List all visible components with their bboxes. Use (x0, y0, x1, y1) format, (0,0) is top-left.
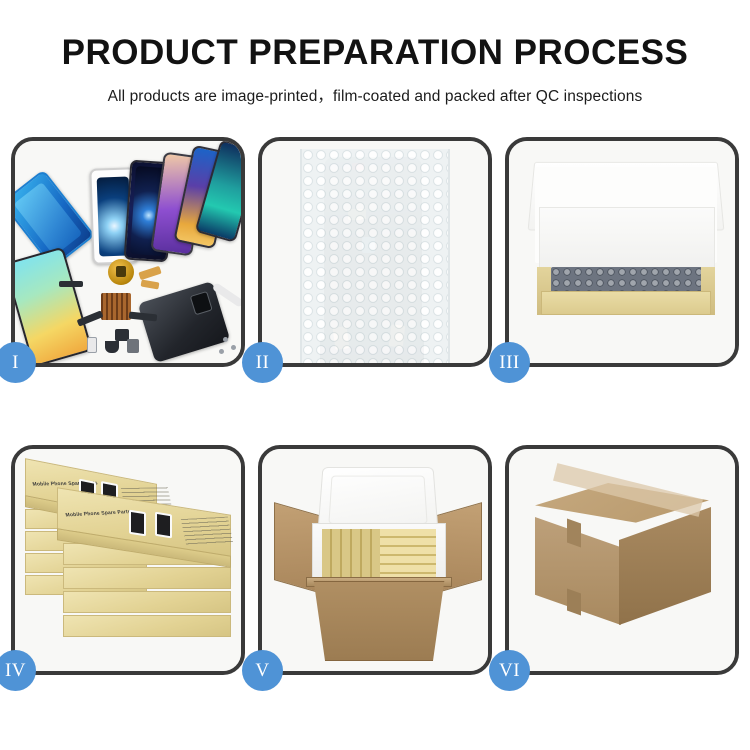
step-image-2 (262, 141, 488, 363)
packed-boxes-2-icon (380, 529, 436, 577)
box-spec-lines-2 (181, 517, 233, 546)
page-subtitle: All products are image-printed，film-coat… (0, 84, 750, 106)
step-panel-6: VI (505, 445, 739, 675)
carton-body-icon (308, 581, 450, 661)
phone-housing-icon (138, 281, 231, 363)
carton-right-face-icon (619, 507, 711, 625)
step-image-6 (509, 449, 735, 671)
step-badge-4: IV (0, 650, 36, 691)
step-panel-5: V (258, 445, 492, 675)
part-connector-icon (87, 337, 97, 353)
step-panel-2: II (258, 137, 492, 367)
screw-2-icon (231, 345, 236, 350)
step-image-3 (509, 141, 735, 363)
step-panel-1: I (11, 137, 245, 367)
step-badge-2: II (242, 342, 283, 383)
step-badge-6: VI (489, 650, 530, 691)
step-panel-4: Mobile Phone Spare Parts Mobile Phone Sp… (11, 445, 245, 675)
kraft-box-right-1 (63, 615, 231, 637)
box-art-4-icon (155, 512, 172, 539)
part-speaker-icon (59, 281, 83, 287)
kraft-box-right-2 (63, 591, 231, 613)
part-button-icon (127, 339, 139, 353)
page-title: PRODUCT PREPARATION PROCESS (0, 34, 750, 73)
part-camera-icon (105, 341, 119, 353)
foam-sheet-icon (539, 207, 715, 275)
step-image-5 (262, 449, 488, 671)
step-image-1 (15, 141, 241, 363)
bubble-wrap-icon (300, 149, 450, 363)
process-steps-grid: I II (11, 137, 739, 675)
step-badge-5: V (242, 650, 283, 691)
step-panel-3: III (505, 137, 739, 367)
step-image-4: Mobile Phone Spare Parts Mobile Phone Sp… (15, 449, 241, 671)
chip-grid-icon (101, 293, 131, 320)
screw-3-icon (219, 349, 224, 354)
header: PRODUCT PREPARATION PROCESS All products… (0, 0, 750, 106)
box-wall-front-icon (541, 291, 711, 315)
carton-seam-top-icon (567, 518, 581, 547)
step-badge-3: III (489, 342, 530, 383)
step-badge-1: I (0, 342, 36, 383)
box-art-3-icon (129, 510, 146, 537)
copper-coil-icon (108, 259, 134, 285)
part-flex-cable-2-icon (141, 279, 160, 289)
carton-seam-bottom-icon (567, 588, 581, 615)
screw-icon (223, 337, 228, 342)
product-preparation-infographic: PRODUCT PREPARATION PROCESS All products… (0, 0, 750, 750)
part-flex-cable-icon (138, 266, 161, 280)
kraft-box-right-3 (63, 567, 231, 589)
